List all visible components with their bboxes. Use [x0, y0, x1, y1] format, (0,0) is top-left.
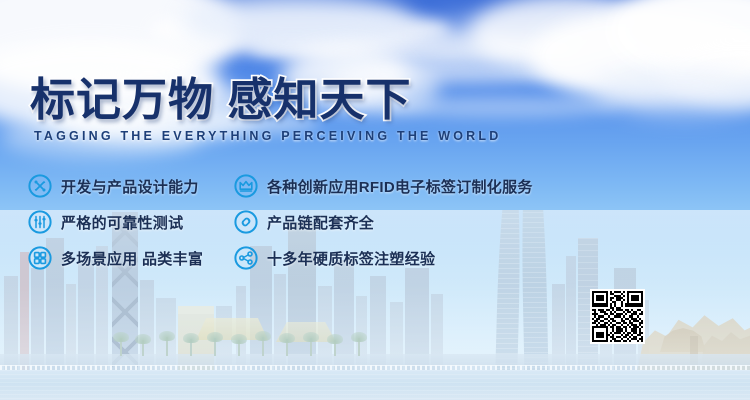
feature-item-reliability[interactable]: 严格的可靠性测试 [28, 210, 183, 234]
feature-label: 开发与产品设计能力 [61, 176, 199, 197]
feature-label: 各种创新应用RFID电子标签订制化服务 [267, 176, 533, 197]
page-subtitle: TAGGING THE EVERYTHING PERCEIVING THE WO… [34, 129, 501, 143]
crossed-tools-icon [28, 174, 52, 198]
feature-label: 多场景应用 品类丰富 [61, 248, 203, 269]
grid-four-squares-icon [28, 246, 52, 270]
page-title: 标记万物 感知天下 [30, 74, 412, 126]
sliders-icon [28, 210, 52, 234]
qr-code-modules [592, 291, 643, 342]
feature-item-rfid-service[interactable]: 各种创新应用RFID电子标签订制化服务 [234, 174, 533, 198]
crown-icon [234, 174, 258, 198]
feature-label: 严格的可靠性测试 [61, 212, 183, 233]
qr-code-icon[interactable] [590, 289, 645, 344]
feature-label: 产品链配套齐全 [267, 212, 374, 233]
chain-link-icon [234, 210, 258, 234]
feature-item-experience[interactable]: 十多年硬质标签注塑经验 [234, 246, 435, 270]
feature-label: 十多年硬质标签注塑经验 [267, 248, 435, 269]
feature-item-applications[interactable]: 多场景应用 品类丰富 [28, 246, 203, 270]
feature-item-supply-chain[interactable]: 产品链配套齐全 [234, 210, 374, 234]
share-network-icon [234, 246, 258, 270]
feature-item-development[interactable]: 开发与产品设计能力 [28, 174, 199, 198]
promo-banner: 标记万物 感知天下 TAGGING THE EVERYTHING PERCEIV… [0, 0, 750, 400]
